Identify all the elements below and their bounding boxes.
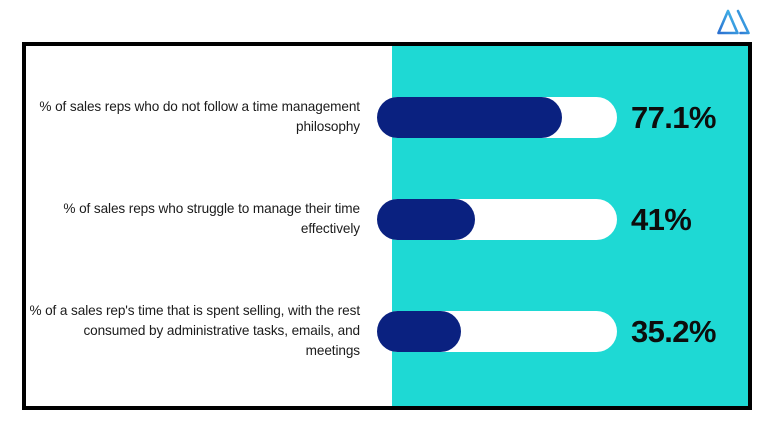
- stat-label: % of sales reps who do not follow a time…: [26, 97, 376, 136]
- stat-row: % of a sales rep's time that is spent se…: [26, 286, 748, 376]
- infographic-panel: % of sales reps who do not follow a time…: [22, 42, 752, 410]
- stat-value: 41%: [631, 204, 691, 235]
- bar-track: [377, 97, 617, 138]
- bar-track: [377, 311, 617, 352]
- mountain-logo-icon: [717, 9, 751, 35]
- stat-label: % of sales reps who struggle to manage t…: [26, 199, 376, 238]
- stat-value: 35.2%: [631, 316, 716, 347]
- infographic-canvas: % of sales reps who do not follow a time…: [0, 0, 768, 432]
- stat-row: % of sales reps who do not follow a time…: [26, 86, 748, 148]
- stat-label: % of a sales rep's time that is spent se…: [26, 301, 376, 360]
- bar-fill: [377, 311, 461, 352]
- bar-fill: [377, 97, 562, 138]
- stat-row: % of sales reps who struggle to manage t…: [26, 188, 748, 250]
- bar-fill: [377, 199, 475, 240]
- bar-track: [377, 199, 617, 240]
- stat-bar-area: 41%: [376, 188, 748, 250]
- brand-logo: [714, 6, 754, 38]
- stat-value: 77.1%: [631, 102, 716, 133]
- stat-rows: % of sales reps who do not follow a time…: [26, 46, 748, 406]
- stat-bar-area: 35.2%: [376, 286, 748, 376]
- stat-bar-area: 77.1%: [376, 86, 748, 148]
